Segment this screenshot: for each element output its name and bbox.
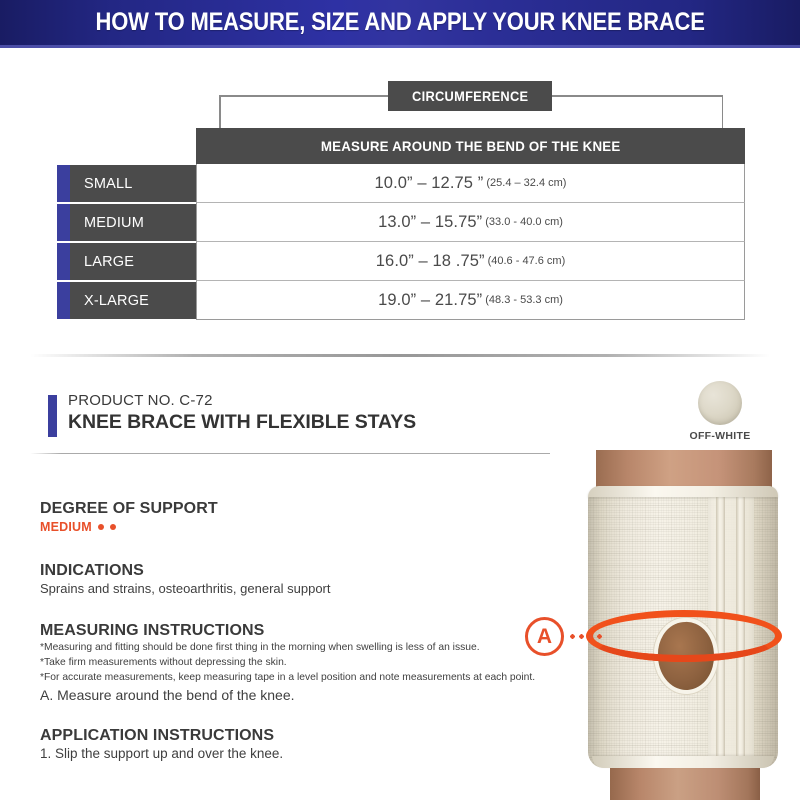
- measurement-ring-front: [586, 610, 782, 662]
- brace-bottom-band: [592, 756, 774, 768]
- spacer: [40, 596, 520, 622]
- product-accent-bar: [48, 395, 57, 437]
- measuring-point-a: A. Measure around the bend of the knee.: [40, 687, 520, 703]
- row-value-cell: 10.0” – 12.75 ” (25.4 – 32.4 cm): [196, 164, 745, 203]
- product-name: KNEE BRACE WITH FLEXIBLE STAYS: [68, 411, 416, 434]
- row-value-cell: 16.0” – 18 .75” (40.6 - 47.6 cm): [196, 242, 745, 281]
- row-size-cell: MEDIUM: [70, 204, 196, 241]
- row-value-cm: (48.3 - 53.3 cm): [485, 294, 563, 306]
- row-size-cell: LARGE: [70, 243, 196, 280]
- support-level: MEDIUM: [40, 520, 520, 534]
- product-number: PRODUCT NO. C-72: [68, 392, 213, 409]
- row-value-cm: (33.0 - 40.0 cm): [485, 216, 563, 228]
- brace-top-band: [588, 486, 778, 497]
- measuring-instructions-heading: MEASURING INSTRUCTIONS: [40, 622, 520, 640]
- size-chart: CIRCUMFERENCE MEASURE AROUND THE BEND OF…: [0, 48, 800, 338]
- row-value-inches: 10.0” – 12.75 ”: [375, 174, 484, 193]
- row-size-label: LARGE: [84, 254, 134, 270]
- section-divider: [30, 354, 770, 357]
- bracket-left-leg: [219, 95, 221, 129]
- measure-point-marker-label: A: [537, 626, 552, 647]
- row-value-inches: 13.0” – 15.75”: [378, 213, 482, 232]
- color-swatch-circle: [698, 381, 742, 425]
- size-chart-column-header-text: MEASURE AROUND THE BEND OF THE KNEE: [321, 138, 621, 154]
- color-swatch: OFF-WHITE: [688, 381, 752, 442]
- size-chart-rows: SMALL 10.0” – 12.75 ” (25.4 – 32.4 cm) M…: [0, 164, 800, 320]
- row-size-label: MEDIUM: [84, 215, 144, 231]
- page-header: HOW TO MEASURE, SIZE AND APPLY YOUR KNEE…: [0, 0, 800, 45]
- spacer: [40, 703, 520, 727]
- row-size-label: X-LARGE: [84, 293, 149, 309]
- indications-heading: INDICATIONS: [40, 562, 520, 580]
- row-accent-bar: [57, 243, 70, 280]
- support-dot-icon: [98, 524, 104, 530]
- row-value-cm: (40.6 - 47.6 cm): [488, 255, 566, 267]
- measuring-bullet: *Measuring and fitting should be done fi…: [40, 640, 520, 655]
- indications-text: Sprains and strains, osteoarthritis, gen…: [40, 581, 520, 596]
- application-instructions-heading: APPLICATION INSTRUCTIONS: [40, 727, 520, 745]
- table-row: X-LARGE 19.0” – 21.75” (48.3 - 53.3 cm): [0, 281, 800, 320]
- support-dot-icon: [110, 524, 116, 530]
- row-size-cell: SMALL: [70, 165, 196, 202]
- product-photo: [540, 450, 800, 800]
- spacer: [40, 534, 520, 562]
- measuring-bullet: *For accurate measurements, keep measuri…: [40, 670, 520, 685]
- application-step: 1. Slip the support up and over the knee…: [40, 746, 520, 761]
- table-row: MEDIUM 13.0” – 15.75” (33.0 - 40.0 cm): [0, 203, 800, 242]
- measure-point-marker-a: A: [525, 617, 564, 656]
- circumference-label: CIRCUMFERENCE: [388, 81, 552, 111]
- row-size-label: SMALL: [84, 176, 133, 192]
- infographic-page: HOW TO MEASURE, SIZE AND APPLY YOUR KNEE…: [0, 0, 800, 800]
- row-value-cell: 13.0” – 15.75” (33.0 - 40.0 cm): [196, 203, 745, 242]
- row-value-inches: 16.0” – 18 .75”: [376, 252, 485, 271]
- measuring-bullet: *Take firm measurements without depressi…: [40, 655, 520, 670]
- support-level-label: MEDIUM: [40, 520, 92, 534]
- table-row: SMALL 10.0” – 12.75 ” (25.4 – 32.4 cm): [0, 164, 800, 203]
- page-title: HOW TO MEASURE, SIZE AND APPLY YOUR KNEE…: [95, 8, 704, 37]
- row-accent-bar: [57, 204, 70, 241]
- row-value-inches: 19.0” – 21.75”: [378, 291, 482, 310]
- size-chart-column-header: MEASURE AROUND THE BEND OF THE KNEE: [196, 128, 745, 164]
- circumference-label-text: CIRCUMFERENCE: [412, 89, 528, 104]
- table-row: LARGE 16.0” – 18 .75” (40.6 - 47.6 cm): [0, 242, 800, 281]
- row-accent-bar: [57, 282, 70, 319]
- bracket-right-leg: [722, 95, 724, 129]
- row-size-cell: X-LARGE: [70, 282, 196, 319]
- product-title-divider: [30, 453, 550, 454]
- color-swatch-label: OFF-WHITE: [688, 430, 752, 442]
- marker-leader-line: [568, 634, 604, 639]
- degree-of-support-heading: DEGREE OF SUPPORT: [40, 500, 520, 518]
- row-value-cell: 19.0” – 21.75” (48.3 - 53.3 cm): [196, 281, 745, 320]
- row-value-cm: (25.4 – 32.4 cm): [486, 177, 566, 189]
- product-info-column: DEGREE OF SUPPORT MEDIUM INDICATIONS Spr…: [40, 500, 520, 761]
- row-accent-bar: [57, 165, 70, 202]
